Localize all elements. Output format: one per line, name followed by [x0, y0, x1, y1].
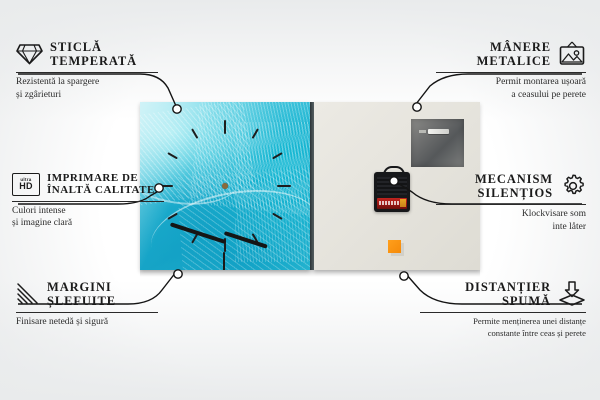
- clock-second-hand: [224, 252, 226, 270]
- clock-tick: [277, 185, 291, 187]
- callout-subtitle: Permit montarea ușoară a ceasului pe per…: [436, 76, 586, 102]
- arrow-onto-pad-icon: [558, 281, 586, 307]
- callout-title-line1: STICLĂ: [50, 40, 137, 54]
- callout-titles: MÂNERE METALICE: [477, 40, 551, 68]
- battery-terminal: [400, 199, 406, 207]
- clock-tick: [224, 120, 226, 134]
- callout-subtitle-line2: și imagine clară: [12, 218, 72, 228]
- product-image: [140, 102, 480, 270]
- callout-subtitle-line2: și zgârieturi: [16, 90, 61, 100]
- callout-subtitle-line1: Culori intense: [12, 206, 66, 216]
- callout-subtitle-line1: Permit montarea ușoară: [496, 77, 586, 87]
- callout-subtitle-line2: inte låter: [553, 222, 587, 232]
- hanger-slot: [428, 129, 449, 134]
- diagonal-lines-icon: [16, 283, 40, 305]
- clock-front-face: [140, 102, 310, 270]
- callout-title-line1: MARGINI: [47, 280, 116, 294]
- callout-divider: [436, 72, 586, 73]
- battery: [377, 198, 407, 209]
- callout-polished-edges: MARGINI ȘLEFUITE Finisare netedă și sigu…: [16, 280, 158, 329]
- callout-title-line1: MÂNERE: [477, 40, 551, 54]
- foam-spacer: [388, 240, 401, 253]
- callout-divider: [16, 312, 158, 313]
- callout-header: MECANISM SILENȚIOS: [436, 172, 586, 200]
- clock-tick: [191, 128, 198, 139]
- infographic-canvas: STICLĂ TEMPERATĂ Rezistentă la spargere …: [0, 0, 600, 400]
- hanging-picture-icon: [558, 41, 586, 67]
- callout-divider: [420, 312, 586, 313]
- callout-header: ultra HD IMPRIMARE DE ÎNALTĂ CALITATE: [12, 172, 164, 197]
- clock-tick: [167, 152, 178, 159]
- callout-divider: [436, 204, 586, 205]
- callout-titles: IMPRIMARE DE ÎNALTĂ CALITATE: [47, 172, 155, 197]
- clock-tick: [272, 213, 283, 220]
- callout-subtitle: Finisare netedă și sigură: [16, 316, 158, 329]
- callout-titles: MARGINI ȘLEFUITE: [47, 280, 116, 308]
- hd-badge-large-text: HD: [19, 182, 32, 191]
- callout-subtitle: Rezistentă la spargere și zgârieturi: [16, 76, 158, 102]
- callout-subtitle-line1: Klockvisare som: [522, 209, 586, 219]
- callout-title-line2: SPUMĂ: [465, 294, 551, 308]
- clock-center-pin: [222, 183, 228, 189]
- callout-titles: DISTANȚIER SPUMĂ: [465, 280, 551, 308]
- clock-tick: [272, 152, 283, 159]
- callout-subtitle-line1: Finisare netedă și sigură: [16, 317, 108, 327]
- callout-subtitle-line2: a ceasului pe perete: [511, 90, 586, 100]
- callout-header: MÂNERE METALICE: [436, 40, 586, 68]
- hd-badge: ultra HD: [12, 173, 40, 196]
- callout-subtitle: Permite menținerea unei distanțe constan…: [420, 316, 586, 339]
- callout-silent-mechanism: MECANISM SILENȚIOS Klockvisare som inte …: [436, 172, 586, 234]
- callout-title-line2: TEMPERATĂ: [50, 54, 137, 68]
- mechanism-vents: [377, 177, 407, 195]
- callout-header: DISTANȚIER SPUMĂ: [420, 280, 586, 308]
- callout-metal-handles: MÂNERE METALICE Permit montarea ușoară a…: [436, 40, 586, 102]
- metal-hanger-plate: [411, 119, 464, 167]
- gear-icon: [560, 173, 586, 199]
- callout-subtitle-line1: Rezistentă la spargere: [16, 77, 99, 87]
- callout-header: MARGINI ȘLEFUITE: [16, 280, 158, 308]
- callout-title-line2: METALICE: [477, 54, 551, 68]
- ultra-hd-icon: ultra HD: [12, 173, 40, 196]
- callout-high-quality-print: ultra HD IMPRIMARE DE ÎNALTĂ CALITATE Cu…: [12, 172, 164, 230]
- callout-titles: STICLĂ TEMPERATĂ: [50, 40, 137, 68]
- callout-title-line2: ȘLEFUITE: [47, 294, 116, 308]
- clock-tick: [167, 213, 178, 220]
- callout-subtitle: Culori intense și imagine clară: [12, 205, 164, 231]
- clock-tick: [252, 128, 259, 139]
- callout-subtitle-line2: constante între ceas și perete: [488, 328, 586, 338]
- callout-foam-spacer: DISTANȚIER SPUMĂ Permite menținerea unei…: [420, 280, 586, 339]
- product-shadow: [140, 270, 480, 277]
- diamond-icon: [16, 43, 43, 65]
- callout-subtitle: Klockvisare som inte låter: [436, 208, 586, 234]
- callout-divider: [16, 72, 158, 73]
- callout-divider: [12, 201, 164, 202]
- callout-title-line2: ÎNALTĂ CALITATE: [47, 184, 155, 196]
- callout-tempered-glass: STICLĂ TEMPERATĂ Rezistentă la spargere …: [16, 40, 158, 102]
- callout-title-line1: IMPRIMARE DE: [47, 172, 155, 184]
- callout-title-line1: MECANISM: [475, 172, 553, 186]
- clock-mechanism: [374, 172, 410, 212]
- callout-titles: MECANISM SILENȚIOS: [475, 172, 553, 200]
- callout-title-line2: SILENȚIOS: [475, 186, 553, 200]
- callout-title-line1: DISTANȚIER: [465, 280, 551, 294]
- callout-header: STICLĂ TEMPERATĂ: [16, 40, 158, 68]
- battery-label: [379, 201, 399, 205]
- callout-subtitle-line1: Permite menținerea unei distanțe: [473, 316, 586, 326]
